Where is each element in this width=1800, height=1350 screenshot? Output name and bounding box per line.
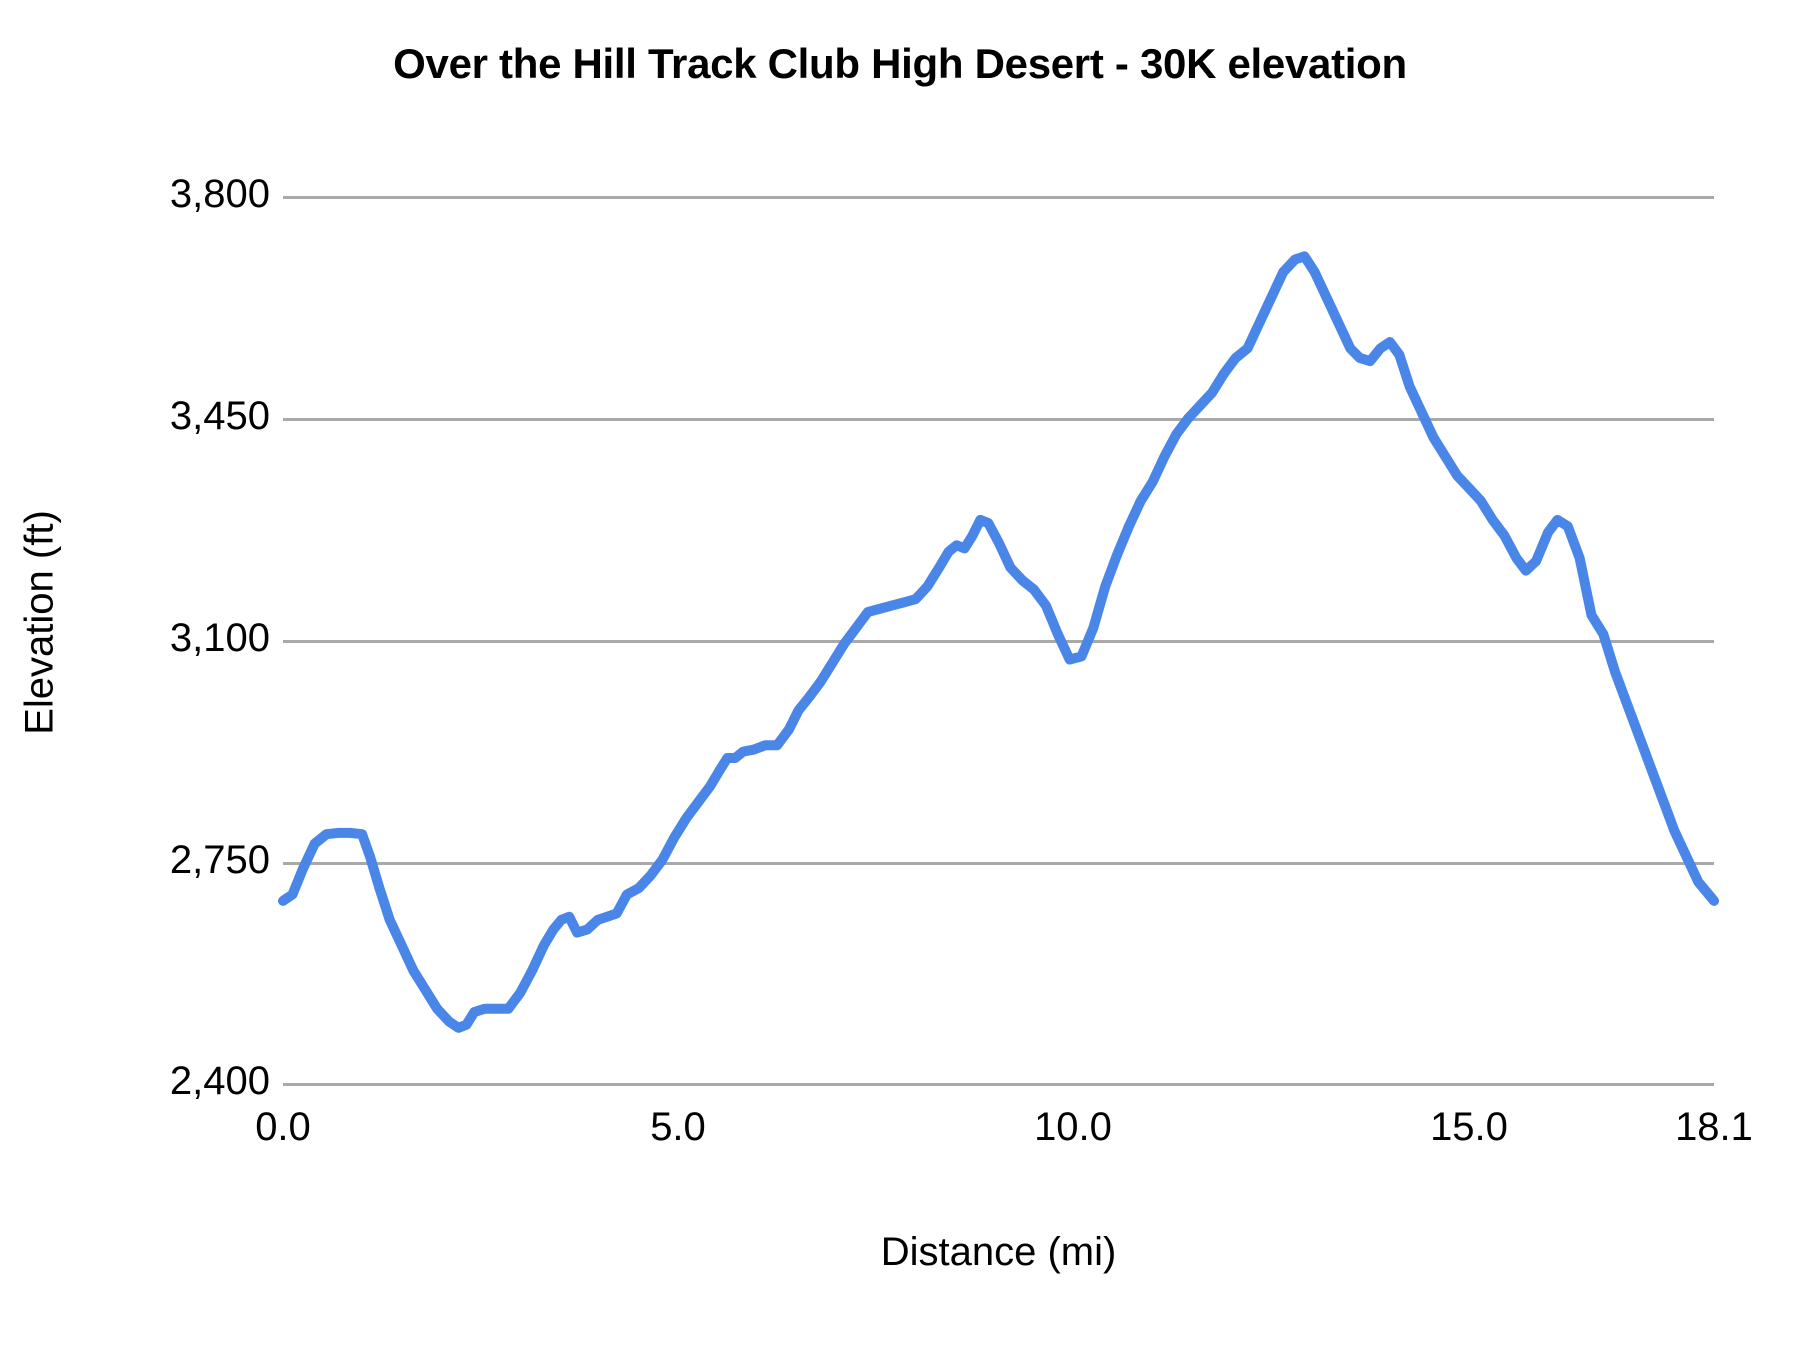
plot-area — [283, 196, 1714, 1085]
elevation-chart: Over the Hill Track Club High Desert - 3… — [0, 0, 1800, 1350]
elevation-line — [283, 256, 1714, 1028]
y-axis-title: Elevation (ft) — [18, 273, 63, 973]
x-axis-title: Distance (mi) — [283, 1230, 1714, 1275]
y-tick-3800: 3,800 — [0, 172, 270, 217]
x-tick-0: 0.0 — [173, 1105, 393, 1150]
x-tick-5: 5.0 — [568, 1105, 788, 1150]
x-tick-15: 15.0 — [1359, 1105, 1579, 1150]
x-tick-18: 18.1 — [1604, 1105, 1800, 1150]
y-tick-2400: 2,400 — [0, 1059, 270, 1104]
x-axis-labels: 0.0 5.0 10.0 15.0 18.1 — [0, 1105, 1800, 1165]
elevation-series-svg — [271, 76, 1726, 1206]
x-tick-10: 10.0 — [963, 1105, 1183, 1150]
